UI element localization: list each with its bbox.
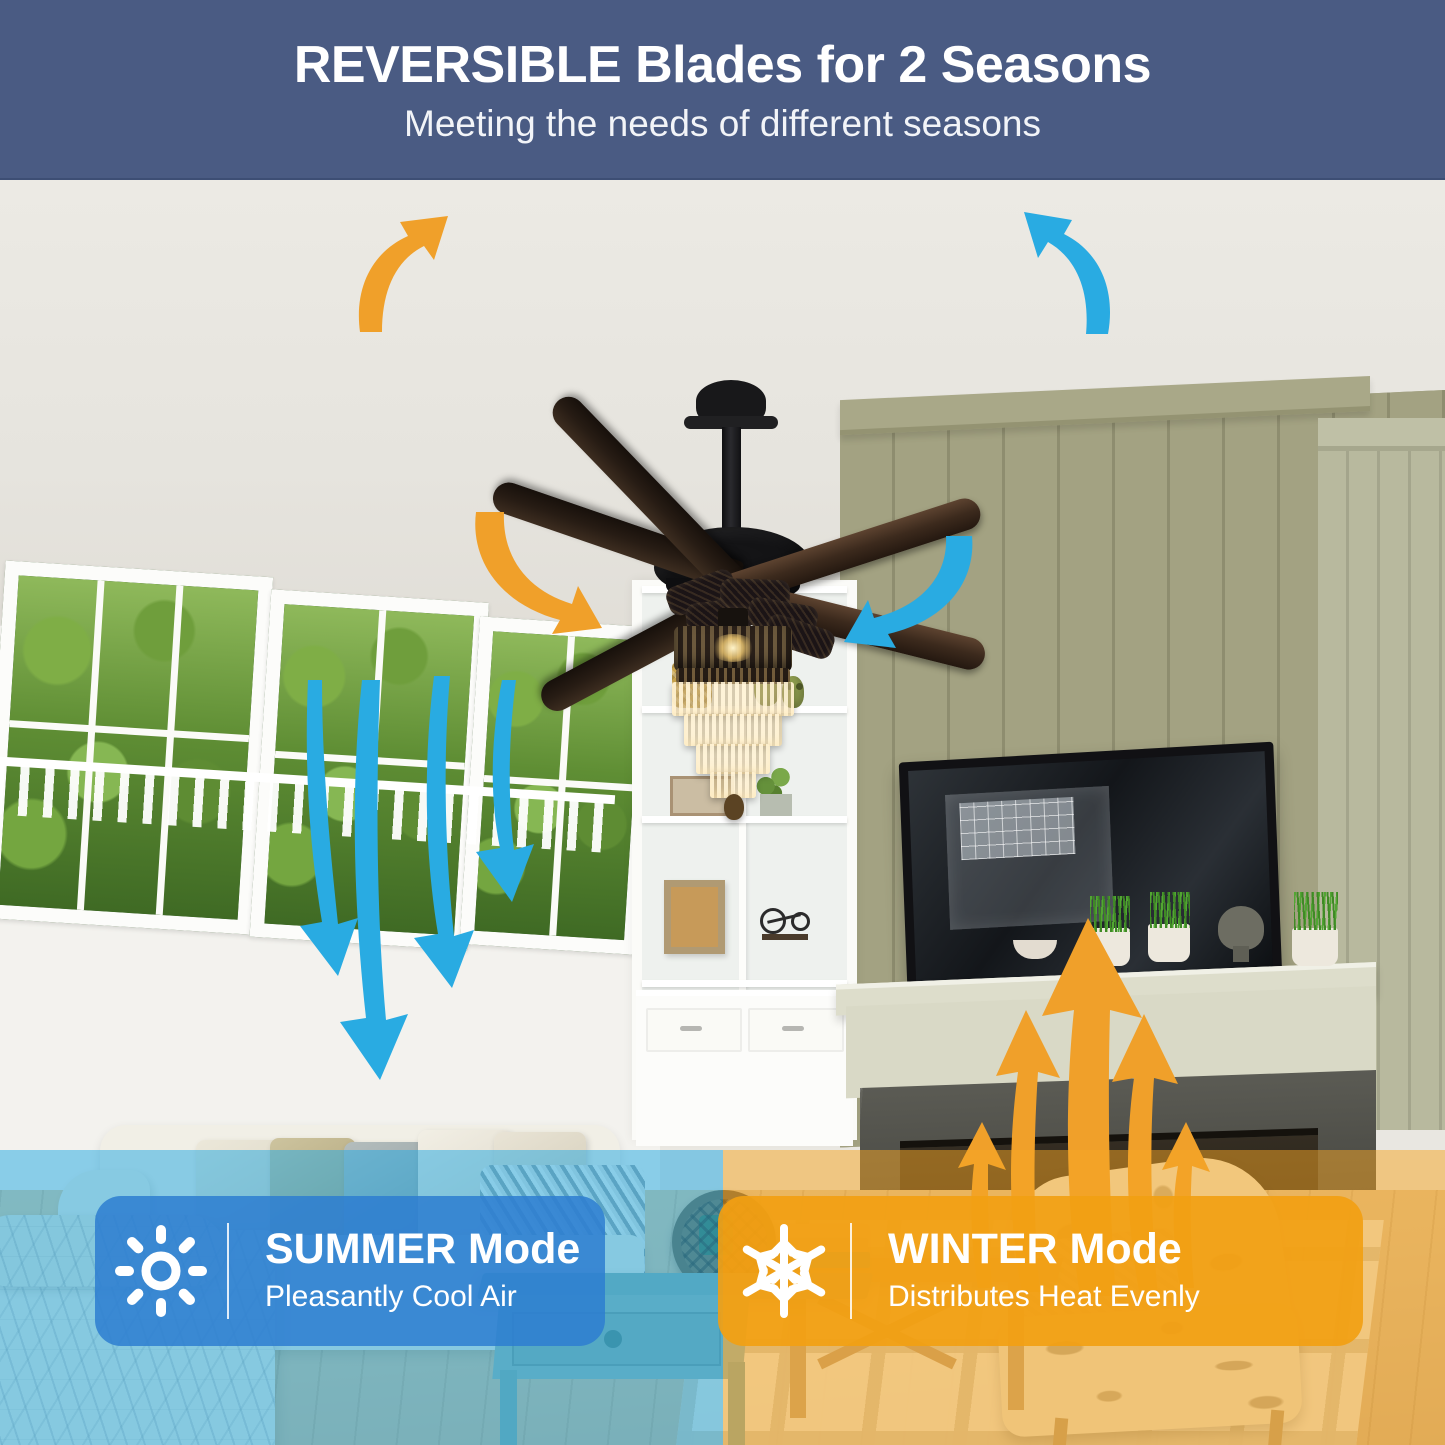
rotation-arrow-top-left xyxy=(330,210,500,340)
cabinet-base xyxy=(636,990,853,1146)
summer-mode-badge[interactable]: SUMMER Mode Pleasantly Cool Air xyxy=(95,1196,605,1346)
bicycle-bar xyxy=(767,913,801,924)
chandelier-finial xyxy=(724,794,744,820)
shelf xyxy=(642,980,847,987)
summer-badge-text: SUMMER Mode Pleasantly Cool Air xyxy=(229,1227,580,1315)
grass-plant xyxy=(1294,892,1338,930)
plant-pot xyxy=(1292,928,1338,966)
summer-badge-title: SUMMER Mode xyxy=(265,1227,580,1272)
sun-icon xyxy=(95,1225,227,1317)
grass-plant xyxy=(1150,892,1190,928)
dark-urn xyxy=(1218,906,1264,950)
winter-badge-subtitle: Distributes Heat Evenly xyxy=(888,1279,1200,1315)
crystal-tier xyxy=(684,714,782,746)
chandelier-light-glow xyxy=(710,634,756,662)
drawer-knob[interactable] xyxy=(680,1026,702,1031)
summer-badge-subtitle: Pleasantly Cool Air xyxy=(265,1279,580,1315)
snowflake-icon xyxy=(718,1223,850,1319)
bicycle-base xyxy=(762,934,808,940)
page-title: REVERSIBLE Blades for 2 Seasons xyxy=(294,39,1151,91)
urn-stem xyxy=(1233,946,1249,962)
winter-mode-badge[interactable]: WINTER Mode Distributes Heat Evenly xyxy=(718,1196,1363,1346)
winter-badge-text: WINTER Mode Distributes Heat Evenly xyxy=(852,1227,1200,1315)
picture-frame xyxy=(664,880,725,954)
fan-downrod xyxy=(722,427,741,535)
rotation-arrow-mid-left xyxy=(460,510,620,640)
crystal-tier xyxy=(672,682,794,716)
header-banner: REVERSIBLE Blades for 2 Seasons Meeting … xyxy=(0,0,1445,180)
plant-pot xyxy=(1148,924,1190,962)
coffee-table-leg xyxy=(500,1370,517,1445)
rotation-arrow-mid-right xyxy=(830,532,980,650)
rotation-arrow-top-right xyxy=(980,208,1140,340)
crystal-chandelier xyxy=(666,608,800,818)
crystal-tier xyxy=(696,744,770,774)
crown-moulding-return xyxy=(1318,418,1445,451)
product-infographic: REVERSIBLE Blades for 2 Seasons Meeting … xyxy=(0,0,1445,1445)
window-left xyxy=(0,561,273,935)
winter-badge-title: WINTER Mode xyxy=(888,1227,1200,1272)
bicycle-sculpture xyxy=(760,896,810,940)
page-subtitle: Meeting the needs of different seasons xyxy=(404,105,1041,142)
drawer-knob[interactable] xyxy=(782,1026,804,1031)
foliage xyxy=(0,575,258,919)
coffee-table-knob[interactable] xyxy=(604,1330,622,1348)
airflow-down-arrow-4 xyxy=(460,680,580,1000)
coffee-table-leg xyxy=(728,1362,745,1445)
